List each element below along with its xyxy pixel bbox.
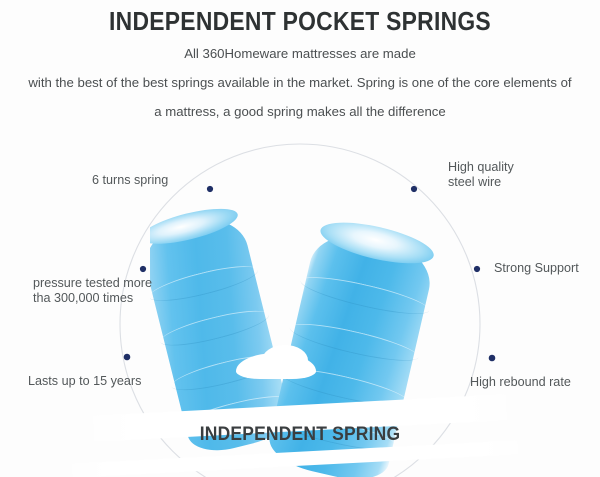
- callout-label-lasts-15-years: Lasts up to 15 years: [28, 374, 141, 389]
- dot-lasts-15-years: [124, 354, 131, 361]
- page-title: INDEPENDENT POCKET SPRINGS: [36, 6, 564, 36]
- callout-label-pressure-tested: pressure tested more tha 300,000 times: [33, 276, 152, 306]
- spring-coil-right-top: [317, 214, 437, 271]
- subtitle-line-2: with the best of the best springs availa…: [0, 75, 600, 90]
- callout-label-six-turns-spring: 6 turns spring: [92, 173, 168, 188]
- product-feature-infographic: INDEPENDENT POCKET SPRINGS All 360Homewa…: [0, 0, 600, 477]
- subtitle-line-3: a mattress, a good spring makes all the …: [0, 104, 600, 119]
- dot-high-rebound-rate: [489, 355, 496, 362]
- spring-coil-left-top: [150, 202, 241, 251]
- dot-six-turns-spring: [207, 186, 213, 192]
- callout-label-strong-support: Strong Support: [494, 261, 579, 276]
- callout-label-line-1: pressure tested more: [33, 276, 152, 291]
- callout-label-high-quality-steel-wire: High quality steel wire: [448, 160, 514, 190]
- callout-label-line-1: High quality: [448, 160, 514, 175]
- subtitle-line-1: All 360Homeware mattresses are made: [0, 46, 600, 61]
- callout-label-high-rebound-rate: High rebound rate: [470, 375, 571, 390]
- callout-label-line-2: tha 300,000 times: [33, 291, 152, 306]
- header-block: INDEPENDENT POCKET SPRINGS All 360Homewa…: [0, 0, 600, 119]
- coil-ring: [298, 270, 431, 321]
- diagram-caption: INDEPENDENT SPRING: [24, 424, 576, 446]
- coil-ring: [157, 304, 271, 353]
- dot-high-quality-steel-wire: [411, 186, 417, 192]
- dot-pressure-tested: [140, 266, 146, 272]
- coil-ring: [150, 259, 261, 308]
- callout-label-line-2: steel wire: [448, 175, 514, 190]
